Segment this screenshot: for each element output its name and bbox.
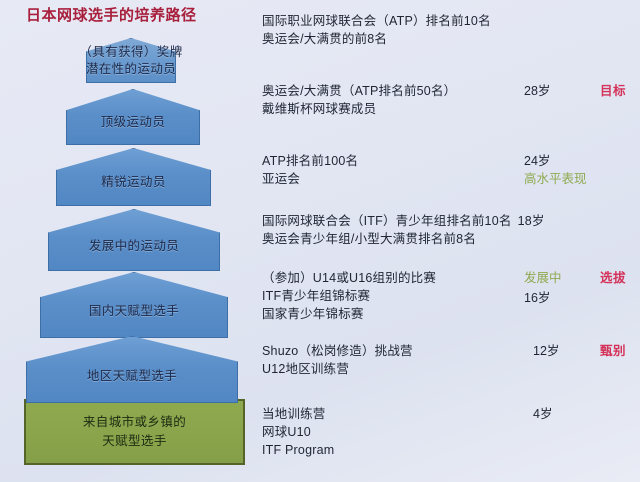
stage-7-age: 4岁 xyxy=(533,405,603,423)
stage-1-line-2: 奥运会/大满贯的前8名 xyxy=(262,30,524,48)
stage-5-line-3: 国家青少年锦标赛 xyxy=(262,305,524,323)
stage-7-lines: 当地训练营 网球U10 ITF Program xyxy=(262,405,524,459)
stage-6-lines: Shuzo（松岗修造）挑战营 U12地区训练营 xyxy=(262,342,524,378)
stage-4-line-2: 奥运会青少年组/小型大满贯排名前8名 xyxy=(262,230,592,248)
stage-5-line-1: （参加）U14或U16组别的比赛 xyxy=(262,269,524,287)
stage-block-4: 国际网球联合会（ITF）青少年组排名前10名18岁 奥运会青少年组/小型大满贯排… xyxy=(252,212,640,254)
pyramid-tier-1[interactable]: （具有获得）奖牌 潜在性的运动员 xyxy=(86,38,176,83)
tier-1-label-line1: （具有获得）奖牌 xyxy=(74,44,188,61)
stage-descriptions: 国际职业网球联合会（ATP）排名前10名 奥运会/大满贯的前8名 奥运会/大满贯… xyxy=(252,0,640,482)
tier-1-label: （具有获得）奖牌 潜在性的运动员 xyxy=(74,44,188,78)
stage-3-line-2: 亚运会 xyxy=(262,170,524,188)
tier-6-label: 地区天赋型选手 xyxy=(87,368,177,385)
stage-1-line-1: 国际职业网球联合会（ATP）排名前10名 xyxy=(262,12,524,30)
stage-5-lines: （参加）U14或U16组别的比赛 ITF青少年组锦标赛 国家青少年锦标赛 xyxy=(262,269,524,323)
stage-7-line-2: 网球U10 xyxy=(262,423,524,441)
stage-7-line-1: 当地训练营 xyxy=(262,405,524,423)
pyramid-tier-4[interactable]: 发展中的运动员 xyxy=(48,209,220,271)
stage-2-lines: 奥运会/大满贯（ATP排名前50名） 戴维斯杯网球赛成员 xyxy=(262,82,524,118)
pyramid-tier-2[interactable]: 顶级运动员 xyxy=(66,89,200,145)
stage-block-6: Shuzo（松岗修造）挑战营 U12地区训练营 12岁 甄别 xyxy=(252,342,640,384)
stage-5-level: 发展中 xyxy=(524,269,562,287)
stage-5-tag: 选拔 xyxy=(600,269,626,287)
stage-1-lines: 国际职业网球联合会（ATP）排名前10名 奥运会/大满贯的前8名 xyxy=(262,12,524,48)
stage-4-line-1-text: 国际网球联合会（ITF）青少年组排名前10名 xyxy=(262,214,512,228)
tier-4-label: 发展中的运动员 xyxy=(89,238,179,255)
stage-4-inline-age: 18岁 xyxy=(512,214,545,228)
tier-5-label: 国内天赋型选手 xyxy=(89,303,179,320)
tier-7-label: 来自城市或乡镇的 天赋型选手 xyxy=(83,413,186,451)
pyramid-tier-3[interactable]: 精锐运动员 xyxy=(56,148,211,206)
stage-6-line-2: U12地区训练营 xyxy=(262,360,524,378)
stage-6-age: 12岁 xyxy=(533,342,603,360)
tier-1-label-line2: 潜在性的运动员 xyxy=(74,61,188,78)
stage-block-1: 国际职业网球联合会（ATP）排名前10名 奥运会/大满贯的前8名 xyxy=(252,12,640,54)
development-pathway-pyramid: （具有获得）奖牌 潜在性的运动员 顶级运动员 精锐运动员 发展中的运动员 国内天… xyxy=(0,0,252,482)
tier-3-label: 精锐运动员 xyxy=(101,174,166,191)
stage-4-lines: 国际网球联合会（ITF）青少年组排名前10名18岁 奥运会青少年组/小型大满贯排… xyxy=(262,212,592,248)
stage-2-tag: 目标 xyxy=(600,82,626,100)
stage-2-age: 28岁 xyxy=(524,82,594,100)
stage-6-line-1: Shuzo（松岗修造）挑战营 xyxy=(262,342,524,360)
stage-4-line-1: 国际网球联合会（ITF）青少年组排名前10名18岁 xyxy=(262,212,592,230)
pyramid-tier-7-base[interactable]: 来自城市或乡镇的 天赋型选手 xyxy=(24,399,245,465)
stage-2-line-1: 奥运会/大满贯（ATP排名前50名） xyxy=(262,82,524,100)
stage-5-age: 16岁 xyxy=(524,289,594,307)
stage-7-line-3: ITF Program xyxy=(262,441,524,459)
stage-block-5: （参加）U14或U16组别的比赛 ITF青少年组锦标赛 国家青少年锦标赛 发展中… xyxy=(252,269,640,329)
stage-6-tag: 甄别 xyxy=(600,342,626,360)
stage-block-2: 奥运会/大满贯（ATP排名前50名） 戴维斯杯网球赛成员 28岁 目标 xyxy=(252,82,640,124)
stage-5-line-2: ITF青少年组锦标赛 xyxy=(262,287,524,305)
tier-7-label-line2: 天赋型选手 xyxy=(83,432,186,451)
stage-3-age: 24岁 xyxy=(524,152,594,170)
pyramid-tier-6[interactable]: 地区天赋型选手 xyxy=(26,336,238,403)
pyramid-tier-5[interactable]: 国内天赋型选手 xyxy=(40,272,228,338)
stage-3-level: 高水平表现 xyxy=(524,170,587,188)
stage-3-line-1: ATP排名前100名 xyxy=(262,152,524,170)
stage-3-lines: ATP排名前100名 亚运会 xyxy=(262,152,524,188)
stage-2-line-2: 戴维斯杯网球赛成员 xyxy=(262,100,524,118)
tier-7-label-line1: 来自城市或乡镇的 xyxy=(83,413,186,432)
stage-block-7: 当地训练营 网球U10 ITF Program 4岁 xyxy=(252,405,640,465)
slide-canvas: 日本网球选手的培养路径 （具有获得）奖牌 潜在性的运动员 顶级运动员 精锐运动员… xyxy=(0,0,640,482)
stage-block-3: ATP排名前100名 亚运会 24岁 高水平表现 xyxy=(252,152,640,194)
tier-2-label: 顶级运动员 xyxy=(101,114,166,131)
